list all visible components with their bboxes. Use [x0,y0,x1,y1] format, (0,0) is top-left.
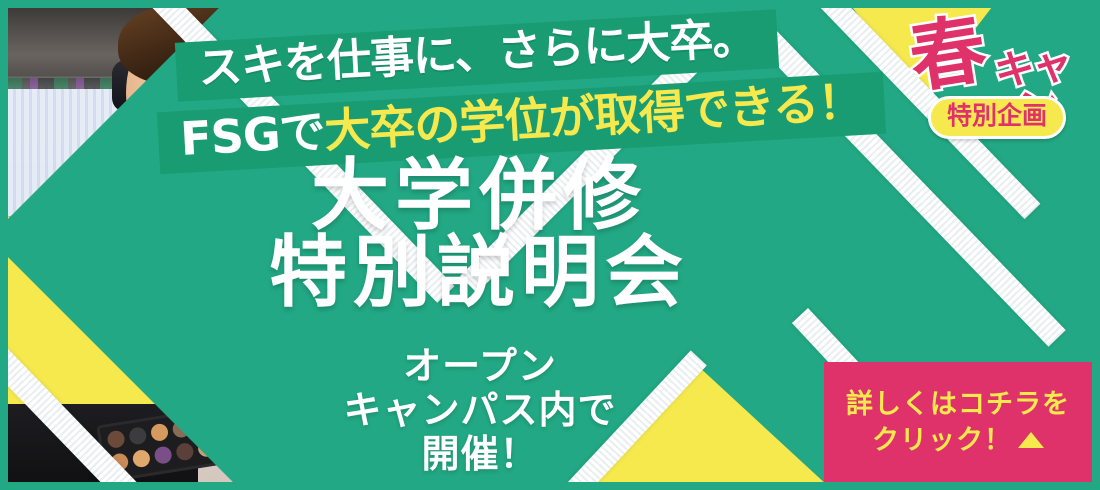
cta-button[interactable]: 詳しくはコチラを クリック！ [824,362,1092,482]
banner-stage: NIRSNAVY [8,8,1092,482]
subtitle-line-1: オープン [260,344,700,388]
cta-line-2: クリック！ [872,427,1012,454]
title-line-2: 特別説明会 [244,235,714,312]
campaign-badge: キャン 春 特別企画 [900,22,1086,134]
badge-pill-label: 特別企画 [928,96,1066,139]
triangle-up-icon [1018,432,1044,448]
subtitle-line-2: キャンパス内で [260,388,700,432]
subtitle-line-3: 開催！ [260,432,700,476]
title-line-1: 大学併修 [244,158,714,235]
cta-line-1: 詳しくはコチラを [846,391,1070,418]
badge-main-label: 春 [905,11,992,98]
page-title: 大学併修 特別説明会 [244,158,714,312]
headline-line2-prefix: FSGで [179,106,326,165]
page-subtitle: オープン キャンパス内で 開催！ [260,344,700,476]
cta-line-2-row: クリック！ [872,427,1044,454]
promo-banner[interactable]: NIRSNAVY [0,0,1100,490]
